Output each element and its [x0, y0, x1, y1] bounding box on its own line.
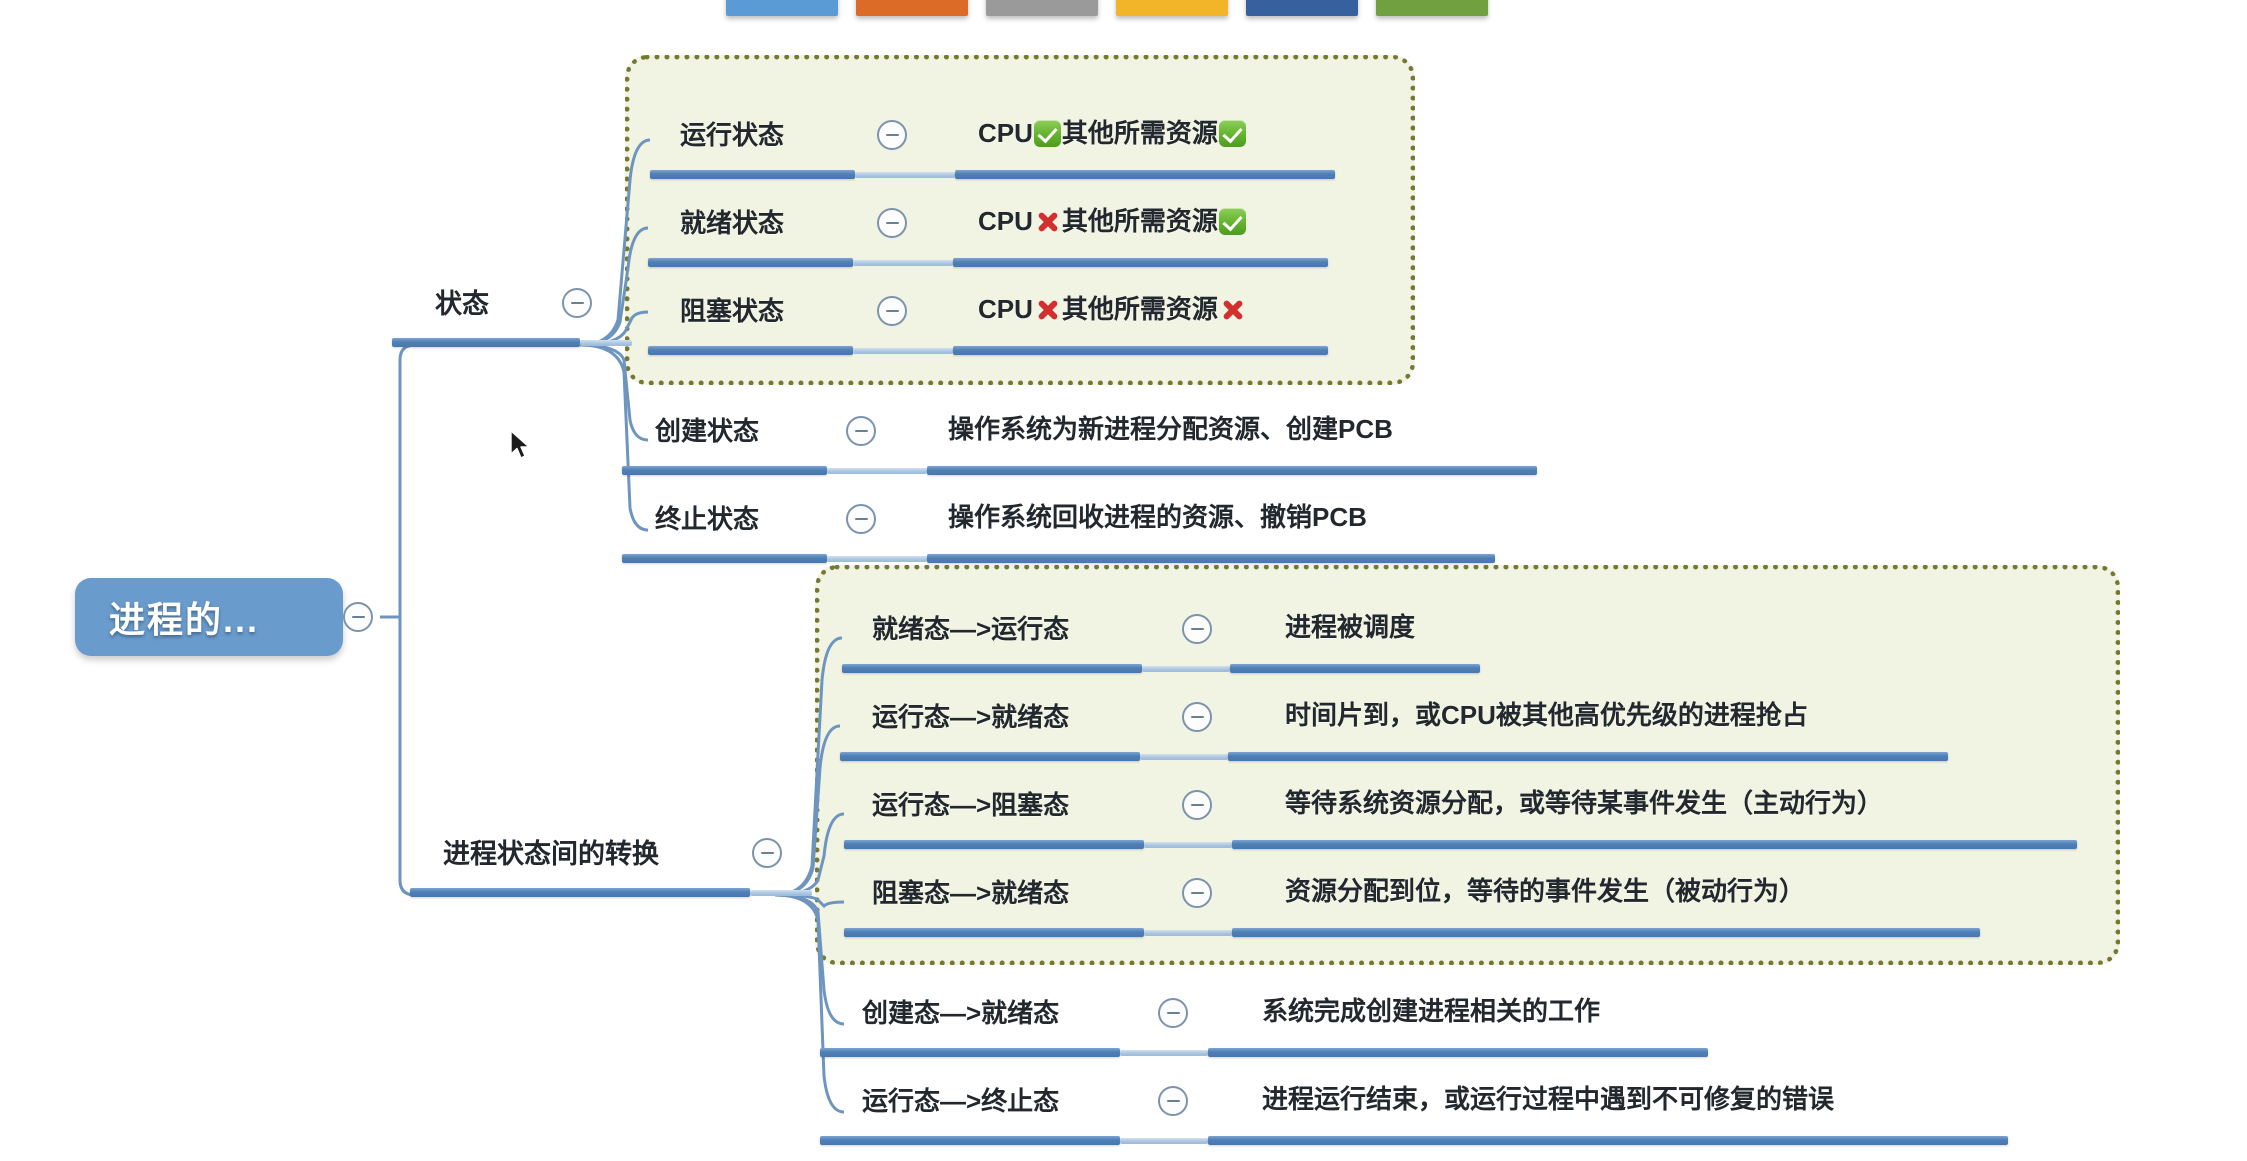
branch-transitions[interactable]: 进程状态间的转换 [443, 840, 659, 868]
detail-ready-cpu-label: CPU [978, 206, 1033, 236]
topic-ready-state-collapse-icon[interactable] [877, 208, 907, 238]
swatch-yellow[interactable] [1116, 0, 1228, 16]
swatch-navy[interactable] [1246, 0, 1358, 16]
topic-ready-to-run-label: 就绪态—>运行态 [872, 616, 1069, 643]
topic-run-to-term-underline [820, 1136, 1120, 1145]
topic-blocked-state-collapse-icon[interactable] [877, 296, 907, 326]
detail-run-to-ready[interactable]: 时间片到，或CPU被其他高优先级的进程抢占 [1285, 702, 1808, 729]
cross-icon [1219, 296, 1246, 323]
topic-terminated-state-underline [622, 554, 827, 563]
topic-create-to-ready[interactable]: 创建态—>就绪态 [862, 1000, 1059, 1027]
detail-run-to-ready-underline [1228, 752, 1948, 761]
detail-run-to-blocked-label: 等待系统资源分配，或等待某事件发生（主动行为） [1285, 790, 1883, 817]
topic-created-state-collapse-icon[interactable] [846, 416, 876, 446]
topic-run-to-term-underline-tail [1120, 1138, 1208, 1144]
topic-run-to-ready[interactable]: 运行态—>就绪态 [872, 704, 1069, 731]
topic-terminated-state-underline-tail [827, 556, 927, 562]
root-node-label: 进程的... [109, 591, 259, 643]
detail-blocked-to-ready[interactable]: 资源分配到位，等待的事件发生（被动行为） [1285, 878, 1805, 905]
branch-states[interactable]: 状态 [435, 290, 489, 318]
topic-blocked-to-ready-underline [844, 928, 1144, 937]
swatch-gray[interactable] [986, 0, 1098, 16]
detail-running-state-underline [955, 170, 1335, 179]
detail-run-to-blocked[interactable]: 等待系统资源分配，或等待某事件发生（主动行为） [1285, 790, 1883, 817]
topic-terminated-state[interactable]: 终止状态 [655, 506, 759, 533]
topic-run-to-term-collapse-icon[interactable] [1158, 1086, 1188, 1116]
topic-running-state-collapse-icon[interactable] [877, 120, 907, 150]
topic-running-state-underline-tail [855, 172, 955, 178]
topic-ready-state-label: 就绪状态 [680, 210, 784, 237]
topic-run-to-blocked-underline [844, 840, 1144, 849]
topic-run-to-blocked[interactable]: 运行态—>阻塞态 [872, 792, 1069, 819]
detail-terminated-state-label: 操作系统回收进程的资源、撤销PCB [948, 504, 1367, 531]
topic-ready-to-run-underline-tail [1142, 666, 1230, 672]
check-icon [1219, 208, 1246, 235]
color-swatch-strip [726, 0, 1488, 16]
branch-transitions-underline-tail [750, 890, 812, 896]
topic-created-state-underline-tail [827, 468, 927, 474]
topic-terminated-state-collapse-icon[interactable] [846, 504, 876, 534]
detail-run-to-term-label: 进程运行结束，或运行过程中遇到不可修复的错误 [1262, 1086, 1834, 1113]
topic-run-to-blocked-underline-tail [1144, 842, 1232, 848]
detail-terminated-state[interactable]: 操作系统回收进程的资源、撤销PCB [948, 504, 1367, 531]
mindmap-canvas: 进程的... 状态 进程状态间的转换 运行状态 CPU其他所需资源 就绪状态 C… [0, 0, 2247, 1161]
cross-icon [1034, 208, 1061, 235]
branch-transitions-label: 进程状态间的转换 [443, 840, 659, 868]
topic-ready-state-underline-tail [853, 260, 953, 266]
detail-run-to-blocked-underline [1232, 840, 2077, 849]
topic-ready-state-underline [648, 258, 853, 267]
topic-blocked-state-underline [648, 346, 853, 355]
detail-run-to-term-underline [1208, 1136, 2008, 1145]
branch-states-label: 状态 [435, 290, 489, 318]
detail-blocked-to-ready-label: 资源分配到位，等待的事件发生（被动行为） [1285, 878, 1805, 905]
swatch-orange[interactable] [856, 0, 968, 16]
detail-created-state-label: 操作系统为新进程分配资源、创建PCB [948, 416, 1393, 443]
topic-run-to-ready-label: 运行态—>就绪态 [872, 704, 1069, 731]
root-collapse-icon[interactable] [343, 602, 373, 632]
detail-blocked-cpu-label: CPU [978, 294, 1033, 324]
topic-terminated-state-label: 终止状态 [655, 506, 759, 533]
detail-ready-to-run-underline [1230, 664, 1480, 673]
mouse-cursor [510, 430, 532, 462]
detail-running-res-label: 其他所需资源 [1062, 118, 1218, 148]
topic-run-to-term[interactable]: 运行态—>终止态 [862, 1088, 1059, 1115]
detail-blocked-to-ready-underline [1232, 928, 1980, 937]
detail-running-cpu-label: CPU [978, 118, 1033, 148]
detail-create-to-ready[interactable]: 系统完成创建进程相关的工作 [1262, 998, 1600, 1025]
topic-ready-to-run-underline [842, 664, 1142, 673]
detail-ready-state-underline [953, 258, 1328, 267]
topic-run-to-ready-underline-tail [1140, 754, 1228, 760]
topic-created-state[interactable]: 创建状态 [655, 418, 759, 445]
check-icon [1034, 120, 1061, 147]
topic-blocked-to-ready[interactable]: 阻塞态—>就绪态 [872, 880, 1069, 907]
branch-transitions-underline [410, 888, 750, 897]
cross-icon [1034, 296, 1061, 323]
branch-states-collapse-icon[interactable] [562, 288, 592, 318]
topic-blocked-to-ready-collapse-icon[interactable] [1182, 878, 1212, 908]
topic-blocked-to-ready-underline-tail [1144, 930, 1232, 936]
topic-created-state-underline [622, 466, 827, 475]
topic-created-state-label: 创建状态 [655, 418, 759, 445]
swatch-blue[interactable] [726, 0, 838, 16]
topic-running-state-underline [650, 170, 855, 179]
topic-create-to-ready-underline [820, 1048, 1120, 1057]
detail-run-to-ready-label: 时间片到，或CPU被其他高优先级的进程抢占 [1285, 702, 1808, 729]
branch-transitions-collapse-icon[interactable] [752, 838, 782, 868]
topic-create-to-ready-label: 创建态—>就绪态 [862, 1000, 1059, 1027]
topic-run-to-blocked-collapse-icon[interactable] [1182, 790, 1212, 820]
detail-running-state[interactable]: CPU其他所需资源 [978, 120, 1247, 147]
topic-run-to-ready-collapse-icon[interactable] [1182, 702, 1212, 732]
detail-run-to-term[interactable]: 进程运行结束，或运行过程中遇到不可修复的错误 [1262, 1086, 1834, 1113]
topic-blocked-to-ready-label: 阻塞态—>就绪态 [872, 880, 1069, 907]
check-icon [1219, 120, 1246, 147]
topic-blocked-state[interactable]: 阻塞状态 [680, 298, 784, 325]
topic-ready-to-run[interactable]: 就绪态—>运行态 [872, 616, 1069, 643]
detail-ready-to-run[interactable]: 进程被调度 [1285, 614, 1415, 641]
topic-blocked-state-underline-tail [853, 348, 953, 354]
detail-ready-to-run-label: 进程被调度 [1285, 614, 1415, 641]
detail-terminated-state-underline [927, 554, 1495, 563]
topic-ready-state[interactable]: 就绪状态 [680, 210, 784, 237]
topic-running-state[interactable]: 运行状态 [680, 122, 784, 149]
detail-created-state[interactable]: 操作系统为新进程分配资源、创建PCB [948, 416, 1393, 443]
topic-run-to-blocked-label: 运行态—>阻塞态 [872, 792, 1069, 819]
detail-blocked-state[interactable]: CPU其他所需资源 [978, 296, 1247, 323]
root-node[interactable]: 进程的... [75, 578, 343, 656]
detail-ready-res-label: 其他所需资源 [1062, 206, 1218, 236]
topic-run-to-term-label: 运行态—>终止态 [862, 1088, 1059, 1115]
topic-blocked-state-label: 阻塞状态 [680, 298, 784, 325]
detail-blocked-res-label: 其他所需资源 [1062, 294, 1218, 324]
topic-ready-to-run-collapse-icon[interactable] [1182, 614, 1212, 644]
detail-ready-state[interactable]: CPU其他所需资源 [978, 208, 1247, 235]
topic-create-to-ready-collapse-icon[interactable] [1158, 998, 1188, 1028]
swatch-green[interactable] [1376, 0, 1488, 16]
topic-run-to-ready-underline [840, 752, 1140, 761]
branch-states-underline-tail [580, 340, 632, 346]
detail-create-to-ready-underline [1208, 1048, 1708, 1057]
topic-running-state-label: 运行状态 [680, 122, 784, 149]
topic-create-to-ready-underline-tail [1120, 1050, 1208, 1056]
branch-states-underline [392, 338, 580, 347]
detail-create-to-ready-label: 系统完成创建进程相关的工作 [1262, 998, 1600, 1025]
detail-blocked-state-underline [953, 346, 1328, 355]
detail-created-state-underline [927, 466, 1537, 475]
